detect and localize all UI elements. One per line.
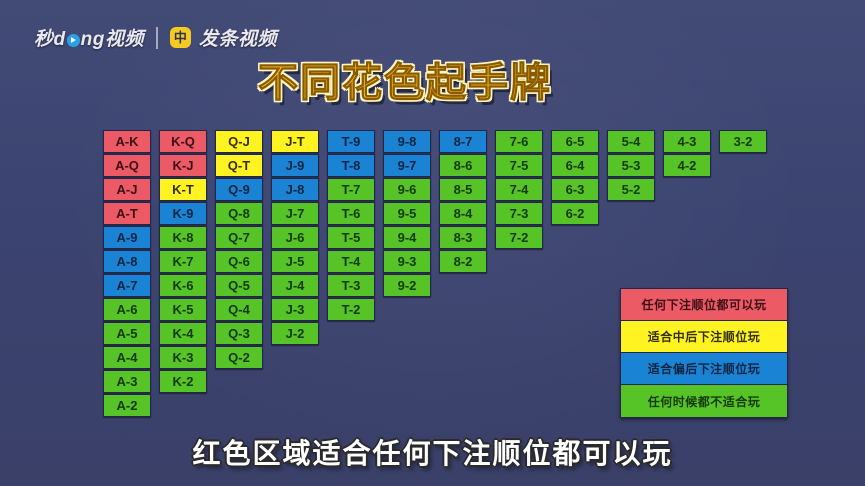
hand-cell[interactable]: J-9 [271, 154, 319, 177]
hand-cell[interactable]: A-Q [103, 154, 151, 177]
hand-cell[interactable]: Q-6 [215, 250, 263, 273]
hand-cell[interactable]: 6-2 [551, 202, 599, 225]
hand-cell[interactable]: Q-9 [215, 178, 263, 201]
hand-cell[interactable]: K-9 [159, 202, 207, 225]
watermark-bar: 秒dng视频 中 发条视频 [34, 24, 277, 51]
hand-cell[interactable]: K-T [159, 178, 207, 201]
legend-item: 适合中后下注顺位玩 [621, 321, 787, 353]
hand-column-7: 7-67-57-47-37-2 [495, 130, 543, 417]
hand-cell[interactable]: T-7 [327, 178, 375, 201]
legend-item: 任何下注顺位都可以玩 [621, 289, 787, 321]
hand-cell[interactable]: A-4 [103, 346, 151, 369]
hand-cell[interactable]: J-T [271, 130, 319, 153]
hand-cell[interactable]: 7-2 [495, 226, 543, 249]
subtitle-caption: 红色区域适合任何下注顺位都可以玩 [0, 432, 865, 472]
hand-cell[interactable]: Q-4 [215, 298, 263, 321]
hand-cell[interactable]: 4-2 [663, 154, 711, 177]
hand-cell[interactable]: 8-3 [439, 226, 487, 249]
hand-cell[interactable]: K-8 [159, 226, 207, 249]
hand-cell[interactable]: 9-7 [383, 154, 431, 177]
hand-cell[interactable]: Q-3 [215, 322, 263, 345]
hand-cell[interactable]: T-2 [327, 298, 375, 321]
hand-cell[interactable]: A-3 [103, 370, 151, 393]
hand-cell[interactable]: Q-2 [215, 346, 263, 369]
hand-cell[interactable]: A-8 [103, 250, 151, 273]
hand-cell[interactable]: K-6 [159, 274, 207, 297]
hand-cell[interactable]: 9-6 [383, 178, 431, 201]
hand-column-J: J-TJ-9J-8J-7J-6J-5J-4J-3J-2 [271, 130, 319, 417]
play-icon [67, 34, 80, 47]
hand-cell[interactable]: T-3 [327, 274, 375, 297]
legend: 任何下注顺位都可以玩适合中后下注顺位玩适合偏后下注顺位玩任何时候都不适合玩 [620, 288, 788, 418]
hand-column-9: 9-89-79-69-59-49-39-2 [383, 130, 431, 417]
hand-cell[interactable]: K-3 [159, 346, 207, 369]
hand-cell[interactable]: 3-2 [719, 130, 767, 153]
hand-cell[interactable]: T-5 [327, 226, 375, 249]
hand-cell[interactable]: 6-3 [551, 178, 599, 201]
watermark-secondary-text: 发条视频 [199, 24, 277, 51]
hand-cell[interactable]: T-8 [327, 154, 375, 177]
hand-column-6: 6-56-46-36-2 [551, 130, 599, 417]
hand-column-8: 8-78-68-58-48-38-2 [439, 130, 487, 417]
hand-cell[interactable]: A-T [103, 202, 151, 225]
hand-cell[interactable]: 9-4 [383, 226, 431, 249]
hand-cell[interactable]: 8-7 [439, 130, 487, 153]
hand-cell[interactable]: 5-2 [607, 178, 655, 201]
watermark-divider [156, 27, 158, 49]
hand-cell[interactable]: K-Q [159, 130, 207, 153]
hand-cell[interactable]: J-2 [271, 322, 319, 345]
hand-cell[interactable]: 7-6 [495, 130, 543, 153]
hand-cell[interactable]: Q-J [215, 130, 263, 153]
hand-cell[interactable]: T-9 [327, 130, 375, 153]
hand-cell[interactable]: A-K [103, 130, 151, 153]
hand-cell[interactable]: 9-2 [383, 274, 431, 297]
legend-item: 任何时候都不适合玩 [621, 385, 787, 417]
hand-cell[interactable]: 7-4 [495, 178, 543, 201]
hand-cell[interactable]: 8-4 [439, 202, 487, 225]
hand-column-K: K-QK-JK-TK-9K-8K-7K-6K-5K-4K-3K-2 [159, 130, 207, 417]
hand-cell[interactable]: 4-3 [663, 130, 711, 153]
hand-cell[interactable]: 5-3 [607, 154, 655, 177]
hand-cell[interactable]: K-J [159, 154, 207, 177]
hand-cell[interactable]: 8-2 [439, 250, 487, 273]
brand-logo-icon: 中 [170, 27, 191, 48]
hand-cell[interactable]: T-6 [327, 202, 375, 225]
hand-column-A: A-KA-QA-JA-TA-9A-8A-7A-6A-5A-4A-3A-2 [103, 130, 151, 417]
hand-cell[interactable]: 8-5 [439, 178, 487, 201]
hand-cell[interactable]: K-2 [159, 370, 207, 393]
hand-cell[interactable]: Q-7 [215, 226, 263, 249]
hand-cell[interactable]: 8-6 [439, 154, 487, 177]
hand-cell[interactable]: Q-5 [215, 274, 263, 297]
hand-cell[interactable]: A-7 [103, 274, 151, 297]
hand-cell[interactable]: A-J [103, 178, 151, 201]
hand-cell[interactable]: 9-8 [383, 130, 431, 153]
video-frame: 秒dng视频 中 发条视频 不同花色起手牌 A-KA-QA-JA-TA-9A-8… [0, 0, 865, 486]
hand-cell[interactable]: 6-5 [551, 130, 599, 153]
hand-cell[interactable]: Q-T [215, 154, 263, 177]
hand-cell[interactable]: J-7 [271, 202, 319, 225]
page-title: 不同花色起手牌 [258, 50, 552, 108]
hand-cell[interactable]: A-5 [103, 322, 151, 345]
hand-cell[interactable]: 7-3 [495, 202, 543, 225]
hand-cell[interactable]: T-4 [327, 250, 375, 273]
hand-cell[interactable]: J-3 [271, 298, 319, 321]
hand-cell[interactable]: 6-4 [551, 154, 599, 177]
hand-cell[interactable]: 9-5 [383, 202, 431, 225]
hand-column-T: T-9T-8T-7T-6T-5T-4T-3T-2 [327, 130, 375, 417]
hand-cell[interactable]: J-5 [271, 250, 319, 273]
hand-cell[interactable]: J-6 [271, 226, 319, 249]
hand-cell[interactable]: J-8 [271, 178, 319, 201]
hand-cell[interactable]: A-9 [103, 226, 151, 249]
hand-cell[interactable]: 5-4 [607, 130, 655, 153]
legend-item: 适合偏后下注顺位玩 [621, 353, 787, 385]
hand-cell[interactable]: Q-8 [215, 202, 263, 225]
hand-cell[interactable]: K-7 [159, 250, 207, 273]
hand-cell[interactable]: 9-3 [383, 250, 431, 273]
hand-cell[interactable]: K-4 [159, 322, 207, 345]
hand-cell[interactable]: J-4 [271, 274, 319, 297]
watermark-primary-text: 秒dng视频 [34, 24, 144, 51]
hand-cell[interactable]: A-2 [103, 394, 151, 417]
hand-cell[interactable]: A-6 [103, 298, 151, 321]
hand-column-Q: Q-JQ-TQ-9Q-8Q-7Q-6Q-5Q-4Q-3Q-2 [215, 130, 263, 417]
hand-cell[interactable]: K-5 [159, 298, 207, 321]
hand-cell[interactable]: 7-5 [495, 154, 543, 177]
